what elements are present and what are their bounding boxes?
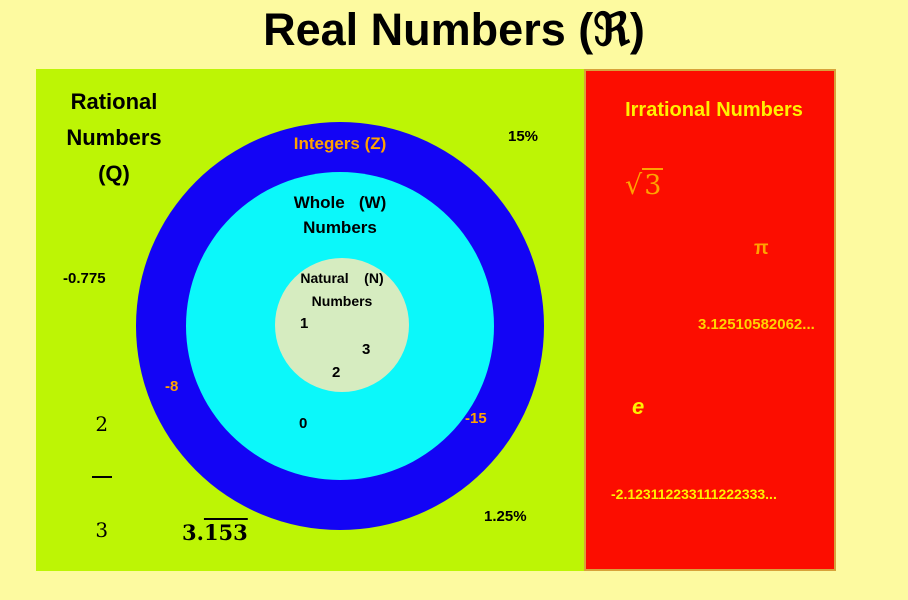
fraction-bar: [92, 476, 112, 478]
repeating-decimal-whole: 3.: [182, 520, 204, 545]
integer-sample-negative-fifteen: -15: [465, 410, 487, 427]
irrational-sample-e: e: [632, 394, 644, 419]
page-title-close-paren: ): [630, 4, 645, 55]
natural-sample-three: 3: [362, 341, 370, 358]
radical-icon: √: [625, 170, 642, 201]
whole-numbers-label: Whole (W) Numbers: [196, 190, 484, 240]
natural-numbers-label: Natural (N) Numbers: [277, 267, 407, 313]
irrational-sample-pi: π: [754, 238, 769, 260]
natural-sample-one: 1: [300, 315, 308, 332]
rational-sample-15-percent: 15%: [508, 128, 538, 145]
whole-sample-zero: 0: [299, 415, 307, 432]
rational-sample-fraction: 2 3: [89, 374, 114, 580]
integer-sample-negative-eight: -8: [165, 378, 178, 395]
repeating-decimal-digits: 153: [204, 520, 248, 545]
irrational-sample-decimal-nonrepeating: -2.123112233111222333...: [611, 486, 777, 502]
rational-sample-1-25-percent: 1.25%: [484, 508, 527, 525]
real-numbers-symbol: ℜ: [593, 3, 630, 56]
rational-sample-repeating-decimal: 3.153: [182, 521, 248, 545]
irrational-sample-decimal-pi-like: 3.12510582062...: [698, 316, 815, 333]
fraction-denominator: 3: [89, 520, 114, 540]
page-title: Real Numbers (ℜ): [0, 2, 908, 58]
irrational-sample-square-root-three: √3: [625, 170, 663, 201]
natural-sample-two: 2: [332, 364, 340, 381]
rational-sample-negative-decimal: -0.775: [63, 270, 106, 287]
diagram-canvas: Real Numbers (ℜ) Rational Numbers (Q) Ir…: [0, 0, 908, 600]
irrational-numbers-heading: Irrational Numbers: [596, 99, 832, 122]
fraction-numerator: 2: [89, 414, 114, 434]
radicand: 3: [642, 168, 663, 201]
integers-label: Integers (Z): [144, 134, 536, 154]
page-title-text: Real Numbers (: [263, 4, 593, 55]
